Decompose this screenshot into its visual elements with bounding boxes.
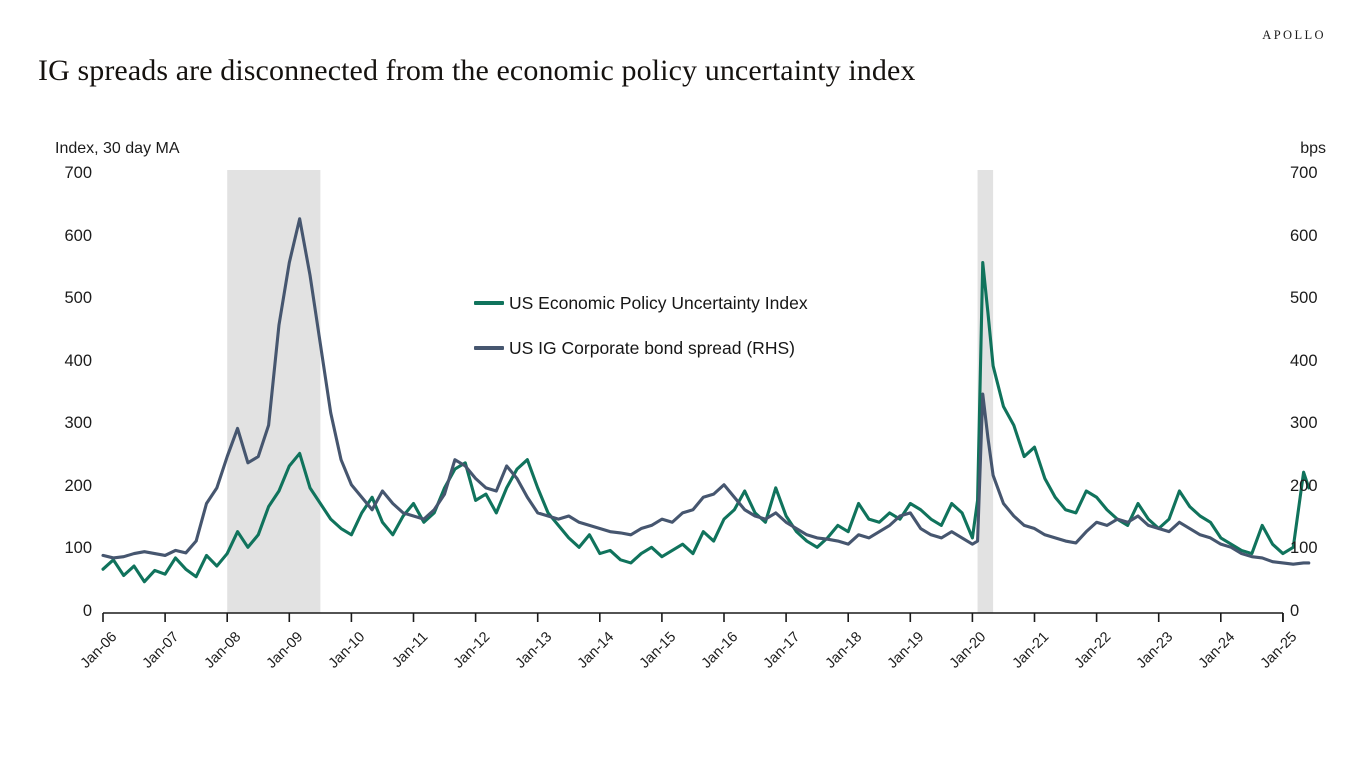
right-axis-tick-label: 200 (1290, 477, 1338, 496)
recession-bands (227, 170, 993, 613)
legend-item: US Economic Policy Uncertainty Index (474, 290, 808, 316)
legend-label: US IG Corporate bond spread (RHS) (509, 338, 795, 359)
legend-item: US IG Corporate bond spread (RHS) (474, 335, 808, 361)
chart-legend: US Economic Policy Uncertainty IndexUS I… (474, 290, 808, 380)
left-axis-tick-label: 300 (48, 414, 92, 433)
left-axis-tick-label: 200 (48, 477, 92, 496)
left-axis-tick-label: 700 (48, 164, 92, 183)
left-axis-tick-label: 600 (48, 227, 92, 246)
legend-color-swatch (474, 346, 504, 350)
legend-label: US Economic Policy Uncertainty Index (509, 293, 808, 314)
left-axis-tick-label: 0 (48, 602, 92, 621)
right-axis-tick-label: 600 (1290, 227, 1338, 246)
legend-color-swatch (474, 301, 504, 305)
right-axis-tick-label: 0 (1290, 602, 1338, 621)
chart-axes (103, 613, 1283, 622)
left-axis-tick-label: 500 (48, 289, 92, 308)
left-axis-tick-label: 400 (48, 352, 92, 371)
right-axis-tick-label: 400 (1290, 352, 1338, 371)
right-axis-tick-label: 100 (1290, 539, 1338, 558)
left-axis-tick-label: 100 (48, 539, 92, 558)
right-axis-tick-label: 500 (1290, 289, 1338, 308)
recession-band (227, 170, 320, 613)
right-axis-tick-label: 700 (1290, 164, 1338, 183)
right-axis-tick-label: 300 (1290, 414, 1338, 433)
